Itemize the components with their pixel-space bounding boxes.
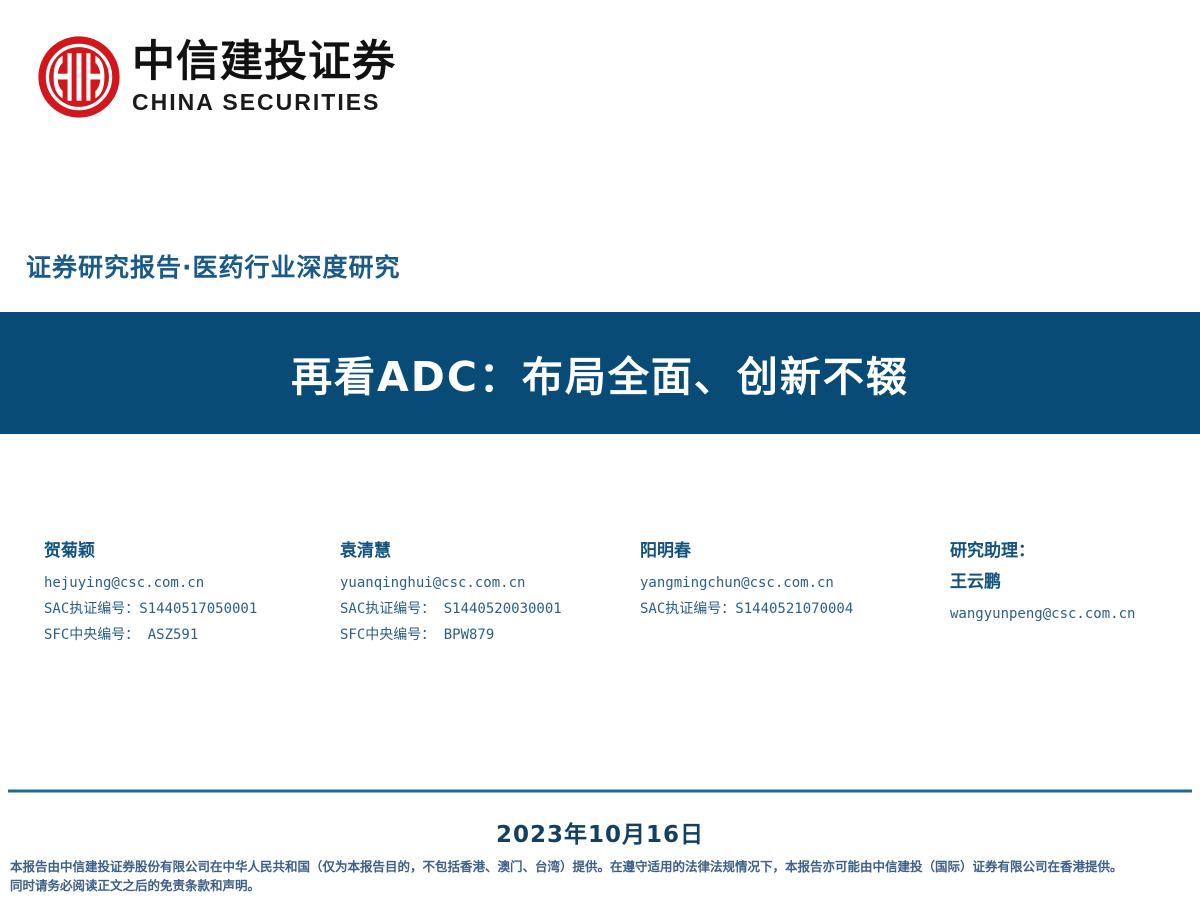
analyst-entry: 研究助理： 王云鹏 wangyunpeng@csc.com.cn [950,536,1200,648]
analyst-sfc-number: SFC中央编号： BPW879 [340,622,640,648]
analyst-name: 袁清慧 [340,536,640,561]
title-banner: 再看ADC：布局全面、创新不辍 [0,312,1200,434]
analyst-list: 贺菊颖 hejuying@csc.com.cn SAC执证编号：S1440517… [0,536,1200,648]
analyst-email[interactable]: yangmingchun@csc.com.cn [640,570,950,596]
report-date: 2023年10月16日 [0,815,1200,849]
analyst-name: 王云鹏 [950,567,1200,592]
report-kind-label: 证券研究报告·医药行业深度研究 [26,248,401,284]
analyst-name: 贺菊颖 [44,536,340,561]
analyst-sac-number: SAC执证编号：S1440521070004 [640,596,950,622]
csc-emblem-icon [38,36,120,118]
analyst-sac-number: SAC执证编号：S1440517050001 [44,596,340,622]
analyst-email[interactable]: hejuying@csc.com.cn [44,570,340,596]
page-title: 再看ADC：布局全面、创新不辍 [291,343,909,403]
analyst-sac-number: SAC执证编号： S1440520030001 [340,596,640,622]
analyst-email[interactable]: yuanqinghui@csc.com.cn [340,570,640,596]
analyst-entry: 贺菊颖 hejuying@csc.com.cn SAC执证编号：S1440517… [44,536,340,648]
analyst-email[interactable]: wangyunpeng@csc.com.cn [950,601,1200,627]
brand-wordmark: 中信建投证券 CHINA SECURITIES [132,41,396,114]
footer-divider [8,789,1192,793]
analyst-sfc-number: SFC中央编号： ASZ591 [44,622,340,648]
analyst-name: 阳明春 [640,536,950,561]
disclaimer-line-2: 同时请务必阅读正文之后的免责条款和声明。 [10,876,1195,895]
report-cover-page: 中信建投证券 CHINA SECURITIES 证券研究报告·医药行业深度研究 … [0,0,1200,900]
brand-logo: 中信建投证券 CHINA SECURITIES [38,36,396,118]
analyst-entry: 阳明春 yangmingchun@csc.com.cn SAC执证编号：S144… [640,536,950,648]
analyst-role-label: 研究助理： [950,536,1200,561]
brand-name-cn: 中信建投证券 [132,41,396,84]
disclaimer: 本报告由中信建投证券股份有限公司在中华人民共和国（仅为本报告目的，不包括香港、澳… [10,857,1195,895]
analyst-entry: 袁清慧 yuanqinghui@csc.com.cn SAC执证编号： S144… [340,536,640,648]
disclaimer-line-1: 本报告由中信建投证券股份有限公司在中华人民共和国（仅为本报告目的，不包括香港、澳… [10,857,1195,876]
brand-name-en: CHINA SECURITIES [132,91,396,114]
